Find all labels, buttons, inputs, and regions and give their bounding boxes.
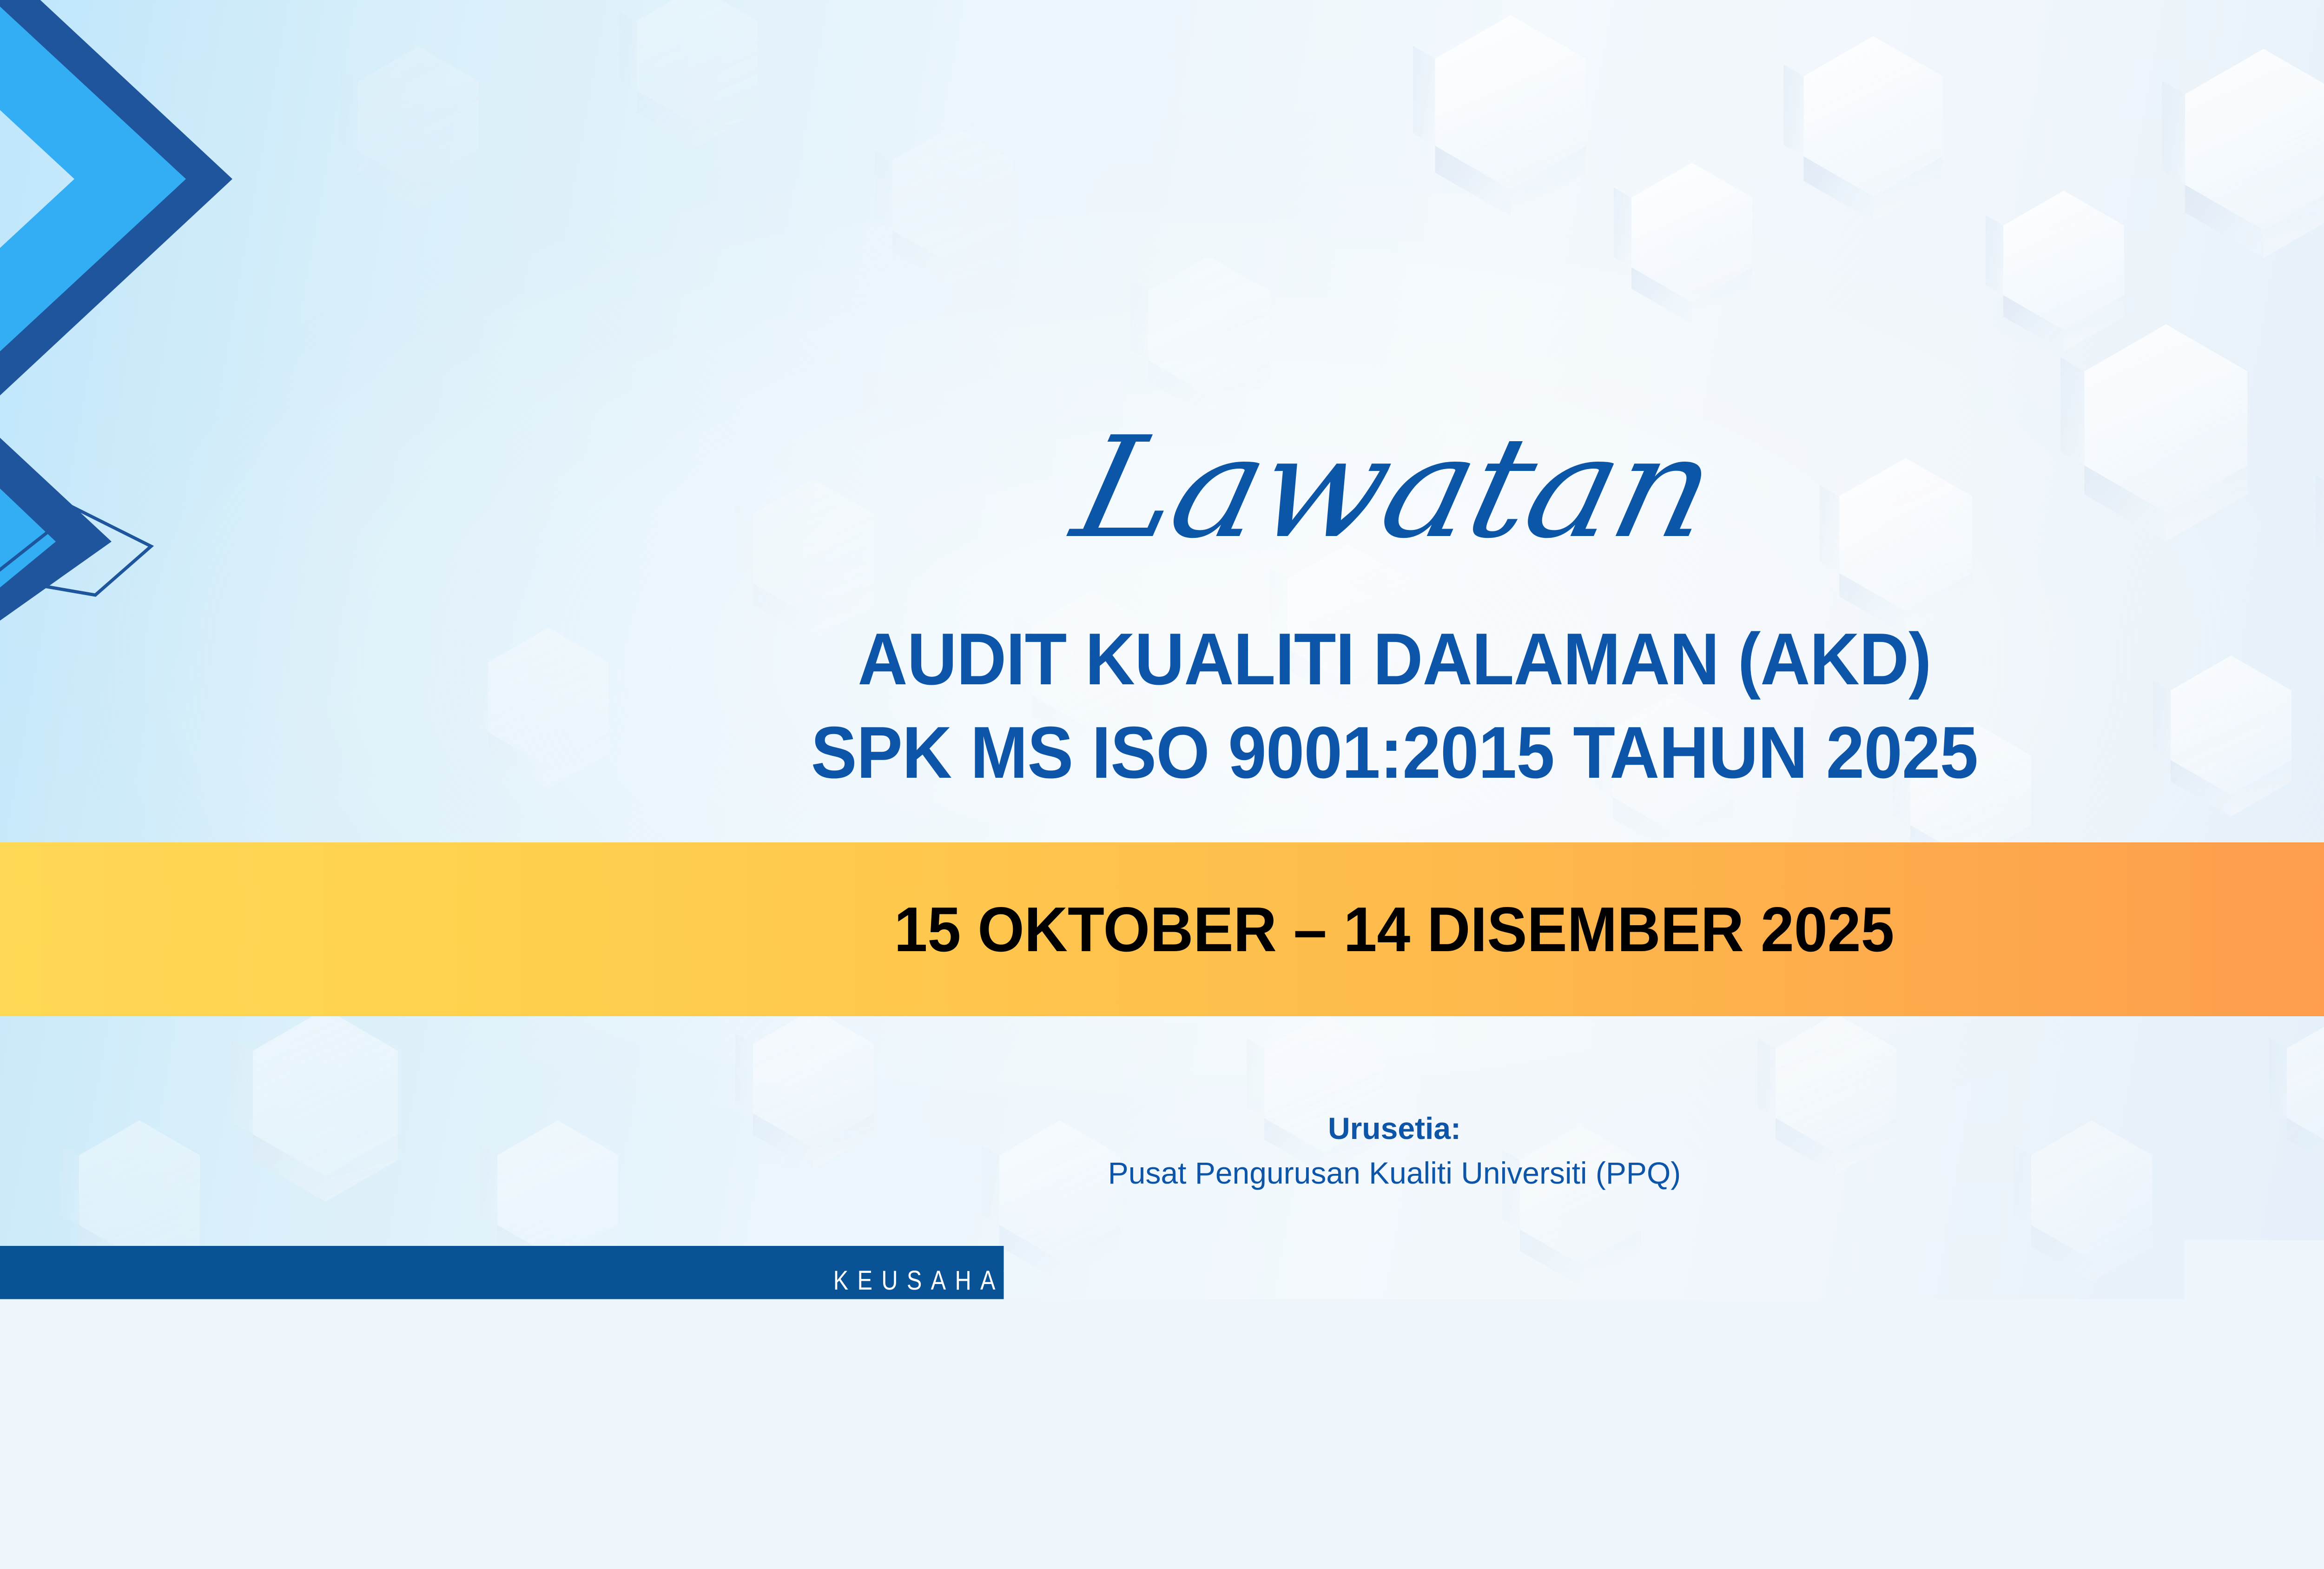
tagline-bar: KEUSAHAWANAN TERAS KAMI • ENTREPRENEURSH… xyxy=(0,1246,2324,1315)
sirim-name-text: SIRIM xyxy=(1598,1451,1731,1461)
aceeu-subtitle-text: ACCREDITATION COUNCIL FOR xyxy=(746,1486,803,1490)
title-line-1: AUDIT KUALITI DALAMAN (AKD) xyxy=(84,613,2324,706)
the-bar-university: UNIVERSITY xyxy=(901,1417,1022,1435)
niosh-caption-2: Cert No : O-130/19 xyxy=(1762,1485,1906,1497)
un-emblem-icon xyxy=(1321,1391,1377,1430)
standards-acb-text: ACB 08H 04 xyxy=(1767,1453,1901,1461)
organizer-label: Urusetia: xyxy=(0,1106,2324,1151)
tiktok-icon[interactable] xyxy=(2290,1400,2319,1429)
title-line-2: SPK MS ISO 9001:2015 TAHUN 2025 xyxy=(84,706,2324,800)
poster-stage: UNIVERSITI MALAYSIA KELANTAN Lawatan AUD… xyxy=(0,0,2324,1569)
footer-logo-strip: No. 1 ENTREPRENEURIAL UNIVERSITY by ACEE… xyxy=(0,1315,2324,1569)
date-range-text: 15 OKTOBER – 14 DISEMBER 2025 xyxy=(894,893,1895,966)
iqnet-seal-icon: IQNet xyxy=(1667,1394,1723,1450)
social-handle: OfficialUMK xyxy=(2151,1441,2324,1483)
aceeu-by-text: by xyxy=(693,1472,706,1484)
main-title-block: AUDIT KUALITI DALAMAN (AKD) SPK MS ISO 9… xyxy=(0,613,2324,799)
organizer-name: Pusat Pengurusan Kualiti Universiti (PPQ… xyxy=(0,1151,2324,1196)
the-subtitle: WORLD | SUBJECT | YOUNG | ASIA | IMPACT xyxy=(845,1461,1033,1488)
logo-setara-rating: SETARA xyxy=(1931,1392,2070,1492)
niosh-certification-text: CERTIFICATION xyxy=(1778,1444,1849,1453)
date-band: 15 OKTOBER – 14 DISEMBER 2025 xyxy=(0,842,2324,1016)
niosh-caption-1: ISO 45001 CERTIFIED xyxy=(1762,1470,1906,1482)
aceeu-globe-icon xyxy=(711,1464,737,1492)
iqnet-text: IQNet xyxy=(1683,1417,1707,1427)
uigm-metric-text: Metric xyxy=(1495,1433,1554,1457)
logo-aceeu-entrepreneurial-university: No. 1 ENTREPRENEURIAL UNIVERSITY by ACEE… xyxy=(667,1389,812,1496)
qs-row-rankings: RANKINGS xyxy=(1121,1447,1198,1464)
standards-malaysia-seal-icon: STANDARDS MALAYSIA ACCREDITED xyxy=(1840,1395,1894,1449)
uigm-subtitle: World University Rankings xyxy=(1433,1471,1567,1496)
facebook-icon[interactable] xyxy=(2151,1400,2179,1429)
sirim-system-text: SYSTEM xyxy=(1615,1419,1649,1428)
tagline-malay: KEUSAHAWANAN TERAS KAMI xyxy=(833,1265,1374,1296)
social-media-block: OfficialUMK xyxy=(2151,1400,2324,1483)
qs-row-university: UNIVERSITY xyxy=(1121,1424,1207,1441)
social-icon-row xyxy=(2151,1400,2324,1429)
uigm-globe-icon xyxy=(1457,1390,1494,1427)
standards-malaysia-text: MALAYSIA xyxy=(1854,1417,1880,1422)
footer-dotted-divider xyxy=(2102,1349,2110,1536)
qs-subtitle: ASIA | SUSTAINABILITY xyxy=(1066,1471,1266,1485)
logo-the-world-university-rankings: T H E WORLD UNIVERSITY RANKINGS WORLD | … xyxy=(837,1396,1041,1488)
the-letter-t: T xyxy=(837,1396,858,1456)
chevron-decoration xyxy=(0,0,325,660)
sirim-caption-1: CERTIFIED TO ISO 9001 : 2015 xyxy=(1592,1470,1736,1483)
logo-niosh-iso45001: NIOSH CERTIFICATION STANDARDS MALAYSIA A… xyxy=(1762,1387,1906,1497)
logo-ui-greenmetric: Green Metric World University Rankings xyxy=(1433,1388,1567,1496)
qs-block-3 xyxy=(1202,1448,1240,1464)
sdg-line-3: GOALS xyxy=(1291,1467,1407,1492)
linkedin-icon[interactable] xyxy=(2255,1400,2284,1429)
logo-sustainable-development-goals: SUSTAINABLE DEVELOPMENT GOALS xyxy=(1291,1391,1407,1492)
script-title: Lawatan xyxy=(1063,418,1725,558)
organizer-block: Urusetia: Pusat Pengurusan Kualiti Unive… xyxy=(0,1106,2324,1195)
qs-block-1 xyxy=(1180,1401,1249,1417)
hero-script-wrap: Lawatan xyxy=(0,418,2324,558)
niosh-figure-icon: NIOSH CERTIFICATION xyxy=(1778,1396,1849,1453)
tagline-english: ENTREPRENEURSHIP IS OUR THRUST xyxy=(1481,1265,1961,1296)
qs-block-2 xyxy=(1211,1424,1241,1440)
the-bar-world: WORLD xyxy=(901,1396,1041,1415)
aceeu-subtitle-text-2: ENTREPRENEURIAL & ENGAGED UNIVERSITIES xyxy=(746,1490,812,1495)
niosh-name-text: NIOSH xyxy=(1821,1436,1844,1444)
standards-accredited-text: ACCREDITED xyxy=(1844,1437,1890,1445)
qs-row-world: WORLD xyxy=(1121,1400,1175,1417)
the-letter-e: E xyxy=(879,1396,901,1456)
aceeu-entrepreneurial-text: ENTREPRENEURIAL xyxy=(717,1413,812,1436)
logo-sirim-iqnet-iso9001: QUALITY SYSTEM IQNet SIRIM CERTIFIED TO … xyxy=(1592,1386,1736,1498)
sirim-caption-2: CERT. NO. : QMS 03688 xyxy=(1592,1486,1736,1498)
aceeu-name-text: ACEEU xyxy=(746,1464,812,1488)
the-letter-h: H xyxy=(858,1396,879,1456)
sirim-diamond-icon: QUALITY SYSTEM xyxy=(1605,1395,1659,1450)
the-bar-rankings: RANKINGS xyxy=(901,1437,1008,1456)
standards-text: STANDARDS xyxy=(1842,1406,1891,1415)
twitter-icon[interactable] xyxy=(2185,1400,2214,1429)
logo-qs-world-university-rankings: QS WORLD UNIVERSITY RANKINGS xyxy=(1066,1399,1266,1485)
instagram-icon[interactable] xyxy=(2220,1400,2249,1429)
sdg-line-1: SUSTAINABLE xyxy=(1291,1432,1407,1450)
qs-mark: QS xyxy=(1066,1399,1116,1466)
tagline-separator-icon: • xyxy=(1425,1266,1432,1289)
